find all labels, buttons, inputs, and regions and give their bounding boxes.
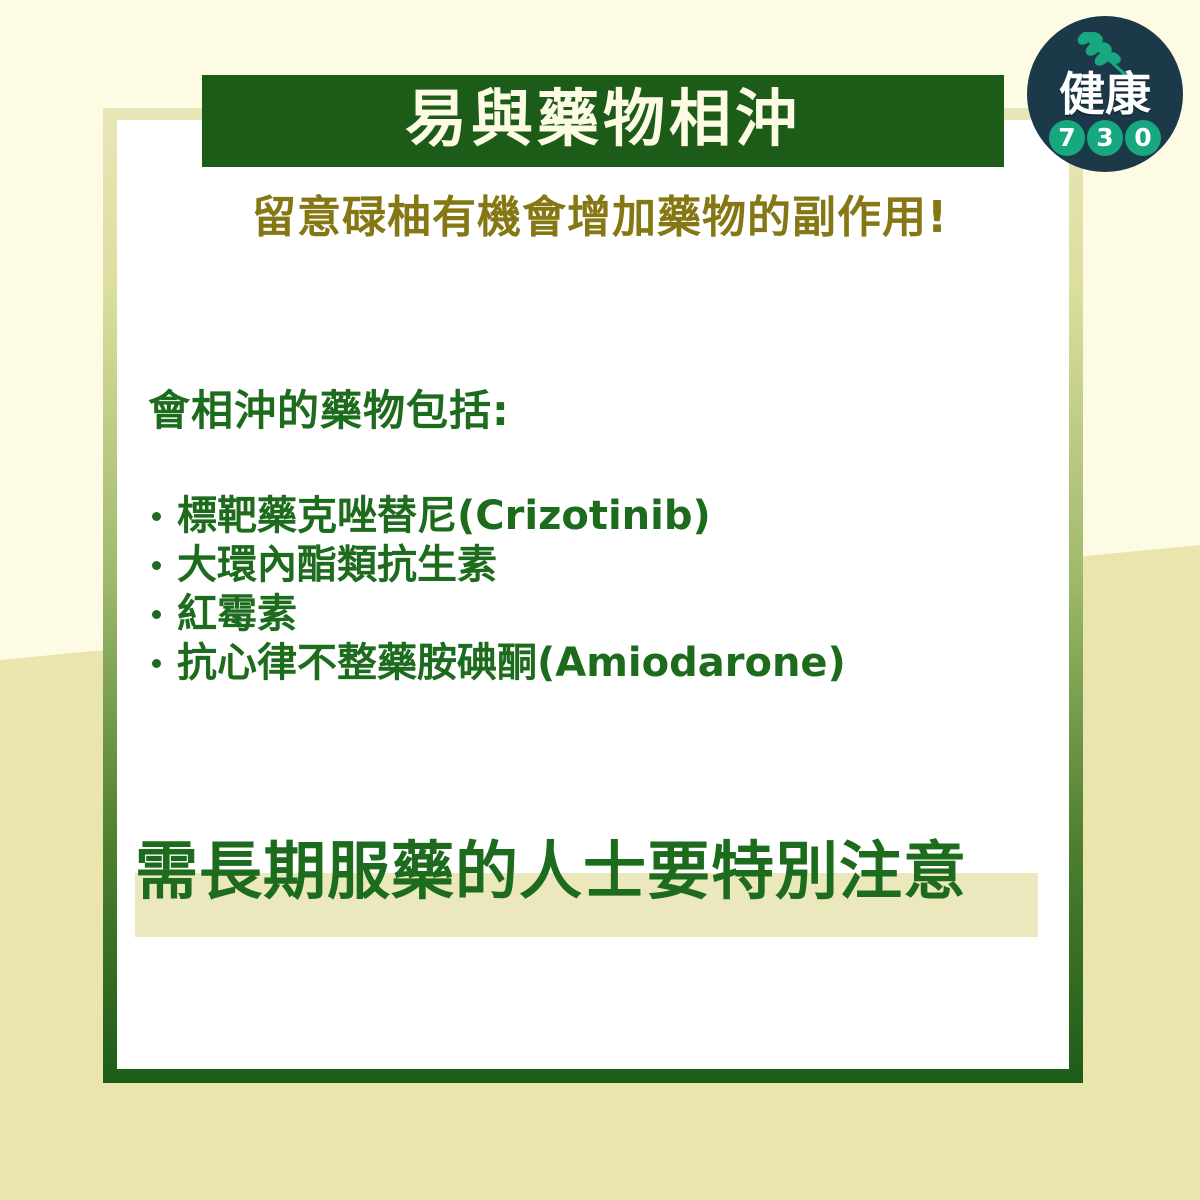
subtitle-row: 留意碌柚有機會增加藥物的副作用! (0, 196, 1200, 240)
body-lead-text: 會相沖的藥物包括: (148, 390, 510, 432)
logo-digit-badges: 7 3 0 (1027, 120, 1183, 156)
list-item-label: 大環內酯類抗生素 (177, 541, 497, 590)
logo-wordmark: 健康 (1027, 71, 1183, 117)
footer-statement: 需長期服藥的人士要特別注意 (135, 840, 1070, 903)
page-title: 易與藥物相沖 (405, 88, 801, 150)
bullet-dot-icon (152, 610, 161, 619)
list-item-label: 標靶藥克唑替尼(Crizotinib) (177, 492, 711, 541)
title-banner: 易與藥物相沖 (202, 75, 1004, 167)
logo-digit: 0 (1125, 120, 1161, 156)
poster-root: 易與藥物相沖 留意碌柚有機會增加藥物的副作用! 會相沖的藥物包括: 標靶藥克唑替… (0, 0, 1200, 1200)
list-item: 抗心律不整藥胺碘酮(Amiodarone) (152, 639, 1032, 688)
list-item: 紅霉素 (152, 590, 1032, 639)
logo-digit: 7 (1049, 120, 1085, 156)
list-item-label: 抗心律不整藥胺碘酮(Amiodarone) (177, 639, 846, 688)
bullet-dot-icon (152, 561, 161, 570)
brand-logo: 健康 7 3 0 (1027, 16, 1183, 172)
logo-digit: 3 (1087, 120, 1123, 156)
list-item: 標靶藥克唑替尼(Crizotinib) (152, 492, 1032, 541)
list-item-label: 紅霉素 (177, 590, 297, 639)
list-item: 大環內酯類抗生素 (152, 541, 1032, 590)
bullet-dot-icon (152, 512, 161, 521)
drug-interaction-list: 標靶藥克唑替尼(Crizotinib) 大環內酯類抗生素 紅霉素 抗心律不整藥胺… (152, 492, 1032, 688)
subtitle-text: 留意碌柚有機會增加藥物的副作用! (252, 192, 948, 243)
bullet-dot-icon (152, 659, 161, 668)
